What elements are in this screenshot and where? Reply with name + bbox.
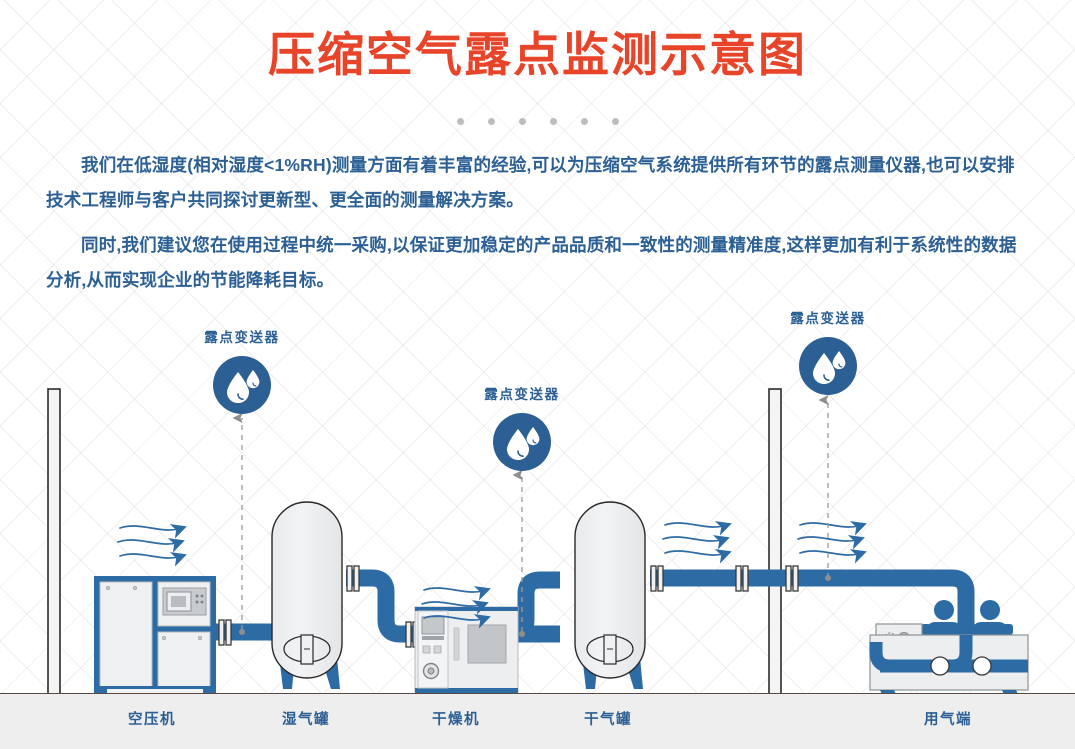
- equipment-caption-wet-tank: 湿气罐: [254, 708, 358, 729]
- wall-column-left: [48, 389, 60, 694]
- decorative-dot: [519, 118, 526, 125]
- equipment-air-compressor: [94, 576, 216, 697]
- process-flow-diagram: [0, 290, 1075, 749]
- decorative-dot: [550, 118, 557, 125]
- dew-point-transmitter-3[interactable]: 露点变送器: [762, 307, 894, 395]
- decorative-dot: [581, 118, 588, 125]
- decorative-dot: [457, 118, 464, 125]
- equipment-wet-tank: [272, 502, 342, 689]
- dew-point-transmitter-1[interactable]: 露点变送器: [176, 326, 308, 414]
- dew-point-transmitter-2[interactable]: 露点变送器: [456, 383, 588, 471]
- water-droplet-icon: [799, 337, 857, 395]
- equipment-dry-tank: [575, 502, 645, 689]
- transmitter-label: 露点变送器: [762, 307, 894, 327]
- equipment-caption-usage-end: 用气端: [896, 708, 1000, 729]
- transmitter-label: 露点变送器: [456, 383, 588, 403]
- water-droplet-icon: [213, 356, 271, 414]
- equipment-dryer: [415, 607, 518, 697]
- decorative-dot: [488, 118, 495, 125]
- intro-paragraph-2: 同时,我们建议您在使用过程中统一采购,以保证更加稳定的产品品质和一致性的测量精准…: [46, 228, 1030, 298]
- equipment-caption-dry-tank: 干气罐: [556, 708, 660, 729]
- intro-paragraph-1: 我们在低湿度(相对湿度<1%RH)测量方面有着丰富的经验,可以为压缩空气系统提供…: [46, 148, 1030, 218]
- water-droplet-icon: [493, 413, 551, 471]
- equipment-caption-dryer: 干燥机: [404, 708, 508, 729]
- page-title: 压缩空气露点监测示意图: [0, 28, 1075, 82]
- decorative-dot: [612, 118, 619, 125]
- equipment-caption-air-compressor: 空压机: [100, 708, 204, 729]
- transmitter-label: 露点变送器: [176, 326, 308, 346]
- decorative-dot-row: [0, 113, 1075, 127]
- equipment-usage-end: [870, 600, 1028, 701]
- wall-column-right: [769, 389, 781, 694]
